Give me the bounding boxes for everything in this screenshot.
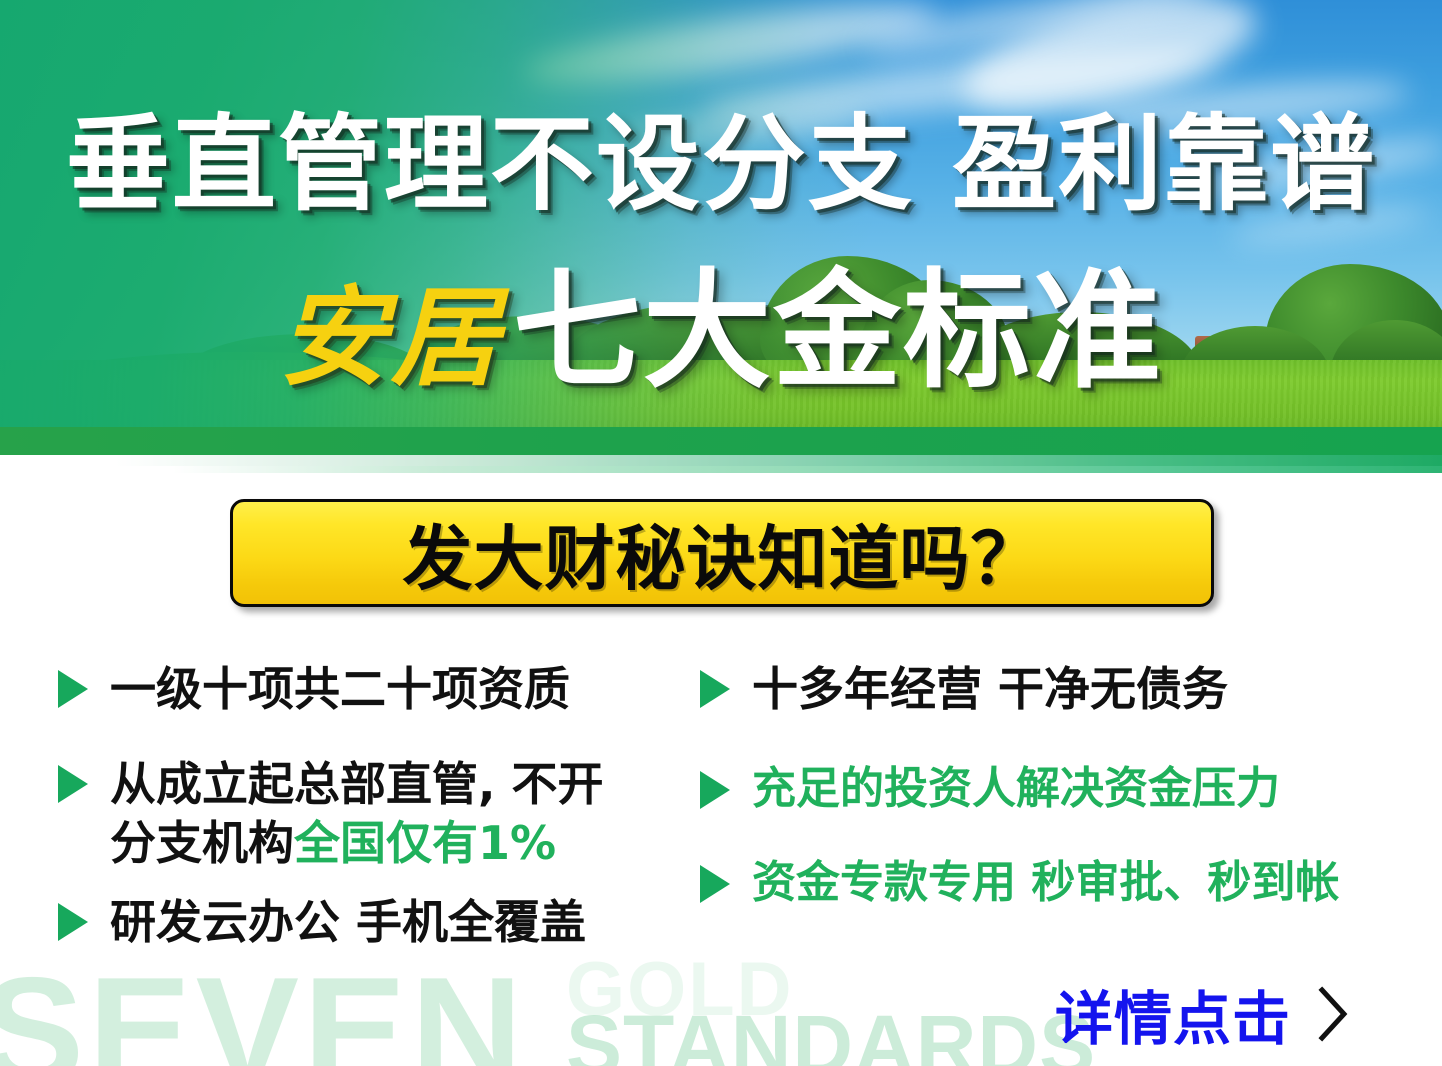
triangle-right-icon [700,771,730,809]
list-item: 充足的投资人解决资金压力 [700,761,1430,817]
list-item-label: 资金专款专用 秒审批、秒到帐 [752,855,1339,911]
list-item: 资金专款专用 秒审批、秒到帐 [700,855,1430,911]
hero-headline-secondary: 安居七大金标准 [0,268,1442,396]
hero-headline-brand: 安居 [279,276,513,401]
triangle-right-icon [58,670,88,708]
feature-column-left: 一级十项共二十项资质 从成立起总部直管, 不开分支机构全国仅有1% 研发云办公 … [58,660,698,952]
highlight-banner[interactable]: 发大财秘诀知道吗？ [230,499,1214,607]
watermark-standards: STANDARDS [566,1003,1096,1066]
highlight-banner-text: 发大财秘诀知道吗？ [403,503,1042,604]
hero-divider [0,455,1442,473]
hero-bottom-strip [0,427,1442,455]
list-item: 十多年经营 干净无债务 [700,660,1430,719]
details-link-label: 详情点击 [1055,972,1291,1056]
list-item: 一级十项共二十项资质 [58,660,698,719]
list-item-label: 研发云办公 手机全覆盖 [110,893,586,952]
list-item: 从成立起总部直管, 不开分支机构全国仅有1% [58,755,698,873]
details-link[interactable]: 详情点击 [1055,972,1351,1056]
hero-headline-primary: 垂直管理不设分支 盈利靠谱 [0,112,1442,216]
list-item-label: 从成立起总部直管, 不开分支机构全国仅有1% [110,755,604,873]
feature-column-right: 十多年经营 干净无债务 充足的投资人解决资金压力 资金专款专用 秒审批、秒到帐 [700,660,1430,912]
chevron-right-icon [1317,985,1351,1048]
list-item-label: 充足的投资人解决资金压力 [752,761,1280,817]
list-item: 研发云办公 手机全覆盖 [58,893,698,952]
triangle-right-icon [58,765,88,803]
hero-headline-standard: 七大金标准 [513,257,1163,406]
list-item-label: 十多年经营 干净无债务 [752,660,1228,719]
list-item-highlight: 全国仅有1% [294,816,556,870]
triangle-right-icon [700,865,730,903]
feature-list: 一级十项共二十项资质 从成立起总部直管, 不开分支机构全国仅有1% 研发云办公 … [0,660,1442,990]
hero-banner: 垂直管理不设分支 盈利靠谱 安居七大金标准 [0,0,1442,455]
triangle-right-icon [58,903,88,941]
list-item-label: 一级十项共二十项资质 [110,660,570,719]
triangle-right-icon [700,670,730,708]
